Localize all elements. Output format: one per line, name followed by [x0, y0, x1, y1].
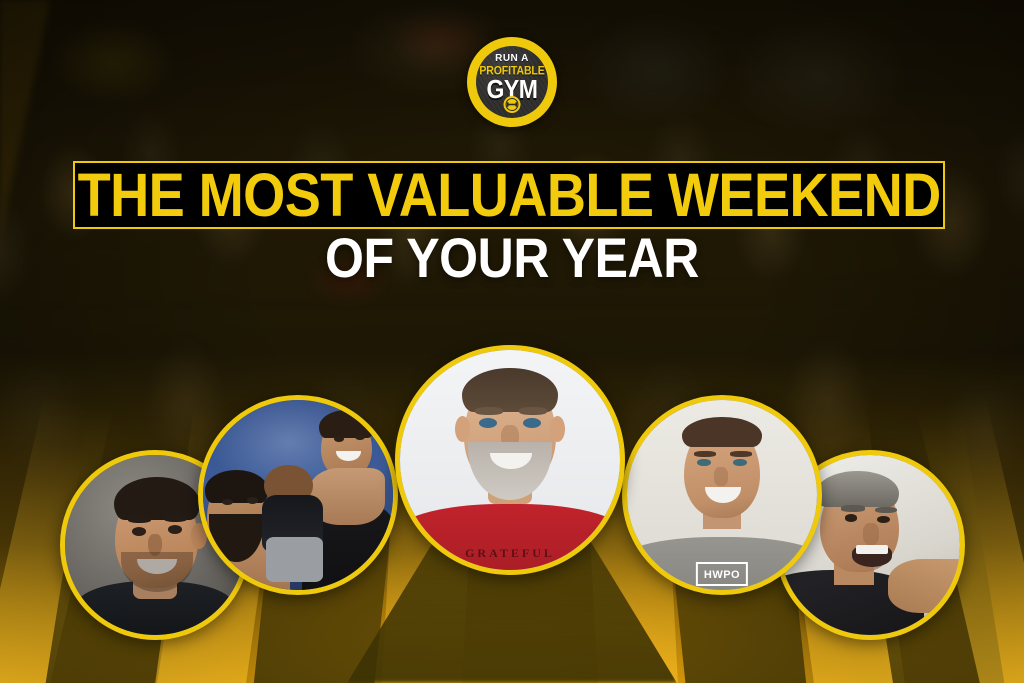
speaker-3-photo: GRATEFUL DUDE — [400, 350, 620, 570]
page-subtitle: OF YOUR YEAR — [0, 230, 1024, 286]
speaker-2-photo — [203, 400, 393, 590]
logo-inner-disc: RUN A PROFITABLE GYM — [476, 46, 548, 118]
speaker-3-shirt-line-1: GRATEFUL — [400, 546, 620, 561]
logo-line-1: RUN A — [495, 54, 529, 65]
barbell-icon — [504, 96, 521, 113]
speaker-3-shirt-line-2: DUDE — [400, 569, 620, 570]
speaker-4-shirt-logo: HWPO — [696, 562, 748, 586]
speaker-portrait-3: GRATEFUL DUDE — [395, 345, 625, 575]
speaker-4-photo: HWPO — [627, 400, 817, 590]
speaker-portrait-2 — [198, 395, 398, 595]
page-title: THE MOST VALUABLE WEEKEND — [77, 164, 940, 226]
speaker-4-shirt-text: HWPO — [704, 569, 740, 581]
speaker-portrait-4: HWPO — [622, 395, 822, 595]
headline-bar: THE MOST VALUABLE WEEKEND — [73, 161, 945, 229]
run-a-profitable-gym-logo: RUN A PROFITABLE GYM — [467, 37, 557, 127]
promotional-poster: RUN A PROFITABLE GYM THE MOST VALUABLE W… — [0, 0, 1024, 683]
